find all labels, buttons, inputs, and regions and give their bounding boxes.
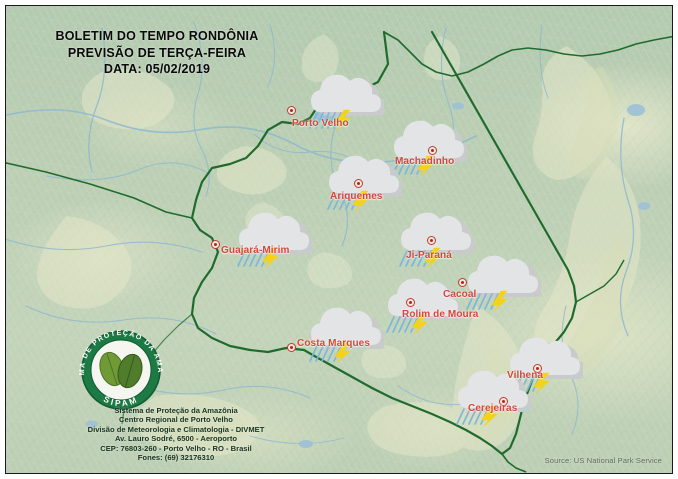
footer-line-6: Fones: (69) 32176310 (26, 453, 326, 462)
title-line-1: BOLETIM DO TEMPO RONDÔNIA (32, 28, 282, 45)
footer-line-5: CEP: 76803-260 - Porto Velho - RO - Bras… (26, 444, 326, 453)
footer-line-1: Sistema de Proteção da Amazônia (26, 406, 326, 415)
western-boundary-arm (6, 162, 192, 218)
city-marker-machadinho[interactable] (428, 146, 437, 155)
city-marker-ariquemes[interactable] (354, 179, 363, 188)
storm-icon-costa-marques (300, 301, 384, 368)
city-marker-ji-paran-[interactable] (427, 236, 436, 245)
title-line-2: PREVISÃO DE TERÇA-FEIRA (32, 45, 282, 62)
map-frame: BOLETIM DO TEMPO RONDÔNIA PREVISÃO DE TE… (5, 5, 673, 474)
title-line-3: DATA: 05/02/2019 (32, 61, 282, 78)
footer-address-block: Sistema de Proteção da AmazôniaCentro Re… (26, 406, 326, 462)
storm-icon-guajar-mirim (228, 206, 312, 273)
southern-boundary (502, 454, 526, 472)
storm-icon-cacoal (457, 249, 541, 316)
city-label-vilhena: Vilhena (507, 370, 543, 381)
sipam-logo: SISTEMA DE PROTEÇÃO DA AMAZÔNIA SIPAM (68, 322, 174, 414)
footer-line-2: Centro Regional de Porto Velho (26, 415, 326, 424)
city-label-costa-marques: Costa Marques (297, 338, 370, 349)
northern-boundary (384, 32, 672, 76)
map-source-credit: Source: US National Park Service (545, 456, 662, 465)
city-marker-porto-velho[interactable] (287, 106, 296, 115)
city-label-rolim-de-moura: Rolim de Moura (402, 309, 478, 320)
footer-line-4: Av. Lauro Sodré, 6500 - Aeroporto (26, 434, 326, 443)
city-label-cerejeiras: Cerejeiras (468, 403, 517, 414)
city-marker-rolim-de-moura[interactable] (406, 298, 415, 307)
city-label-machadinho: Machadinho (395, 156, 454, 167)
city-label-cacoal: Cacoal (443, 289, 476, 300)
city-marker-cacoal[interactable] (458, 278, 467, 287)
city-label-guajar-mirim: Guajará-Mirim (221, 245, 290, 256)
storm-icon-rolim-de-moura (377, 272, 461, 339)
city-marker-guajar-mirim[interactable] (211, 240, 220, 249)
city-marker-costa-marques[interactable] (287, 343, 296, 352)
page-title: BOLETIM DO TEMPO RONDÔNIA PREVISÃO DE TE… (32, 28, 282, 78)
city-label-ji-paran-: Ji-Paraná (406, 250, 452, 261)
weather-bulletin-page: BOLETIM DO TEMPO RONDÔNIA PREVISÃO DE TE… (0, 0, 678, 479)
city-label-porto-velho: Porto Velho (292, 118, 349, 129)
eastern-boundary (576, 260, 624, 302)
city-label-ariquemes: Ariquemes (330, 191, 383, 202)
footer-line-3: Divisão de Meteorologia e Climatologia -… (26, 425, 326, 434)
